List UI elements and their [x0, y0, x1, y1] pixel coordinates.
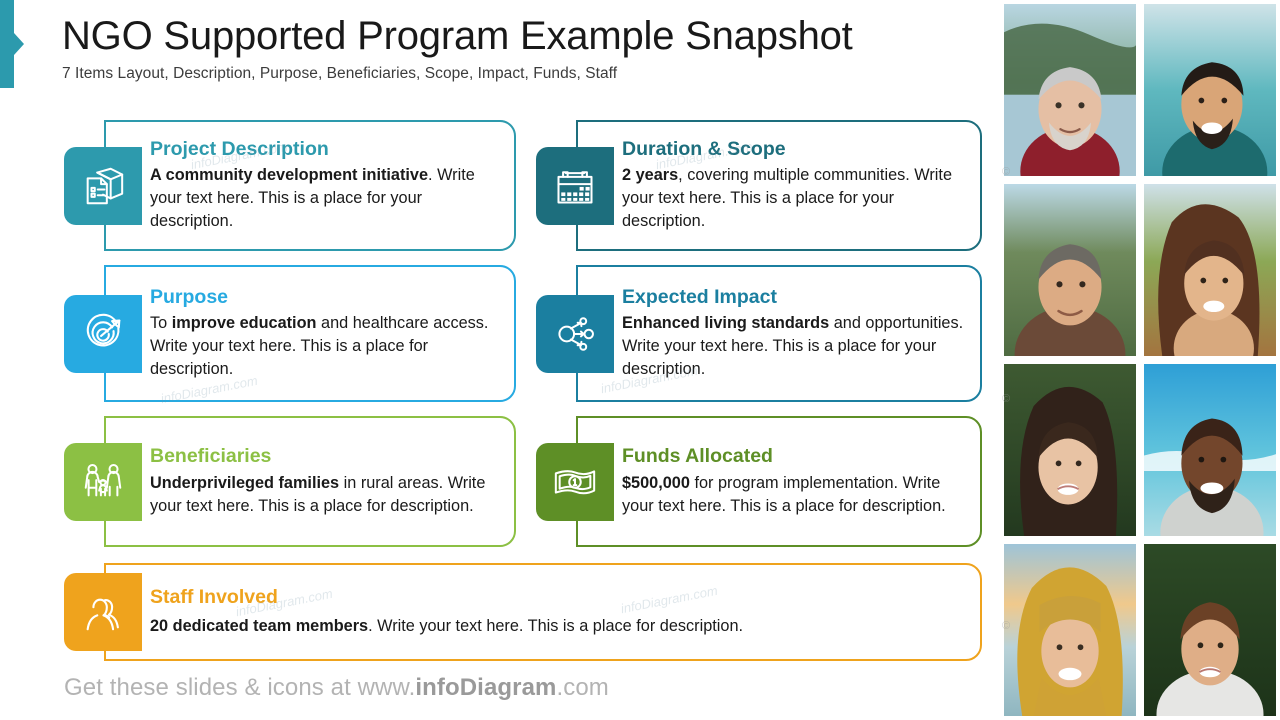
card-body-expected-impact: Expected ImpactEnhanced living standards… [622, 267, 966, 400]
page-title: NGO Supported Program Example Snapshot [62, 14, 982, 59]
card-body-funds-allocated: Funds Allocated$500,000 for program impl… [622, 418, 966, 545]
card-text-funds-allocated: $500,000 for program implementation. Wri… [622, 472, 966, 518]
target-arrow-icon [80, 311, 126, 357]
photo-grid [1000, 0, 1280, 720]
card-staff-involved[interactable]: Staff Involved20 dedicated team members.… [104, 563, 982, 661]
photo-cell-8 [1140, 540, 1280, 720]
calendar-icon [553, 164, 597, 208]
icon-tile-duration-scope [536, 147, 614, 225]
portrait-photo-1 [1004, 4, 1136, 176]
icon-tile-staff-involved [64, 573, 142, 651]
card-duration-scope[interactable]: Duration & Scope2 years, covering multip… [576, 120, 982, 251]
card-body-project-description: Project DescriptionA community developme… [150, 122, 500, 249]
card-purpose[interactable]: PurposeTo improve education and healthca… [104, 265, 516, 402]
card-title-duration-scope: Duration & Scope [622, 138, 966, 161]
card-body-staff-involved: Staff Involved20 dedicated team members.… [150, 565, 966, 659]
card-title-purpose: Purpose [150, 286, 500, 309]
card-text-lead-project-description: A community development initiative [150, 166, 428, 184]
card-text-prefix-purpose: To [150, 314, 172, 332]
page-subtitle: 7 Items Layout, Description, Purpose, Be… [62, 65, 982, 83]
card-beneficiaries[interactable]: BeneficiariesUnderprivileged families in… [104, 416, 516, 547]
card-body-purpose: PurposeTo improve education and healthca… [150, 267, 500, 400]
accent-bar [0, 0, 14, 88]
accent-notch-icon [14, 33, 24, 55]
icon-tile-purpose [64, 295, 142, 373]
portrait-photo-7 [1004, 544, 1136, 716]
footer-brand: infoDiagram [415, 674, 556, 701]
card-title-project-description: Project Description [150, 138, 500, 161]
card-title-funds-allocated: Funds Allocated [622, 445, 966, 468]
portrait-photo-4 [1144, 184, 1276, 356]
photo-cell-4 [1140, 180, 1280, 360]
portrait-photo-8 [1144, 544, 1276, 716]
card-text-project-description: A community development initiative. Writ… [150, 164, 500, 232]
card-title-expected-impact: Expected Impact [622, 286, 966, 309]
footer-prefix: Get these slides & icons at www. [64, 674, 415, 701]
card-text-purpose: To improve education and healthcare acce… [150, 312, 500, 380]
portrait-photo-3 [1004, 184, 1136, 356]
footer-credit: Get these slides & icons at www.infoDiag… [64, 674, 609, 702]
card-text-expected-impact: Enhanced living standards and opportunit… [622, 312, 966, 380]
slide-header: NGO Supported Program Example Snapshot 7… [62, 14, 982, 83]
portrait-photo-2 [1144, 4, 1276, 176]
photo-cell-5 [1000, 360, 1140, 540]
icon-tile-funds-allocated [536, 443, 614, 521]
card-text-beneficiaries: Underprivileged families in rural areas.… [150, 472, 500, 518]
card-text-staff-involved: 20 dedicated team members. Write your te… [150, 615, 966, 638]
two-people-icon [80, 589, 126, 635]
slide-canvas: NGO Supported Program Example Snapshot 7… [0, 0, 1280, 720]
card-text-lead-expected-impact: Enhanced living standards [622, 314, 829, 332]
card-body-beneficiaries: BeneficiariesUnderprivileged families in… [150, 418, 500, 545]
portrait-photo-5 [1004, 364, 1136, 536]
card-text-lead-duration-scope: 2 years [622, 166, 678, 184]
banknote-icon [552, 459, 598, 505]
card-text-lead-staff-involved: 20 dedicated team members [150, 617, 368, 635]
box-checklist-icon [80, 163, 126, 209]
card-body-duration-scope: Duration & Scope2 years, covering multip… [622, 122, 966, 249]
photo-cell-1 [1000, 0, 1140, 180]
card-project-description[interactable]: Project DescriptionA community developme… [104, 120, 516, 251]
family-icon [80, 459, 126, 505]
card-funds-allocated[interactable]: Funds Allocated$500,000 for program impl… [576, 416, 982, 547]
card-expected-impact[interactable]: Expected ImpactEnhanced living standards… [576, 265, 982, 402]
card-text-lead-beneficiaries: Underprivileged families [150, 474, 339, 492]
card-title-staff-involved: Staff Involved [150, 586, 966, 609]
card-title-beneficiaries: Beneficiaries [150, 445, 500, 468]
photo-cell-3 [1000, 180, 1140, 360]
network-nodes-icon [553, 312, 597, 356]
icon-tile-expected-impact [536, 295, 614, 373]
photo-cell-6 [1140, 360, 1280, 540]
card-text-lead-funds-allocated: $500,000 [622, 474, 690, 492]
icon-tile-beneficiaries [64, 443, 142, 521]
footer-suffix: .com [556, 674, 608, 701]
card-text-duration-scope: 2 years, covering multiple communities. … [622, 164, 966, 232]
photo-cell-7 [1000, 540, 1140, 720]
portrait-photo-6 [1144, 364, 1276, 536]
icon-tile-project-description [64, 147, 142, 225]
card-text-rest-staff-involved: . Write your text here. This is a place … [368, 617, 743, 635]
photo-cell-2 [1140, 0, 1280, 180]
card-text-lead-purpose: improve education [172, 314, 317, 332]
